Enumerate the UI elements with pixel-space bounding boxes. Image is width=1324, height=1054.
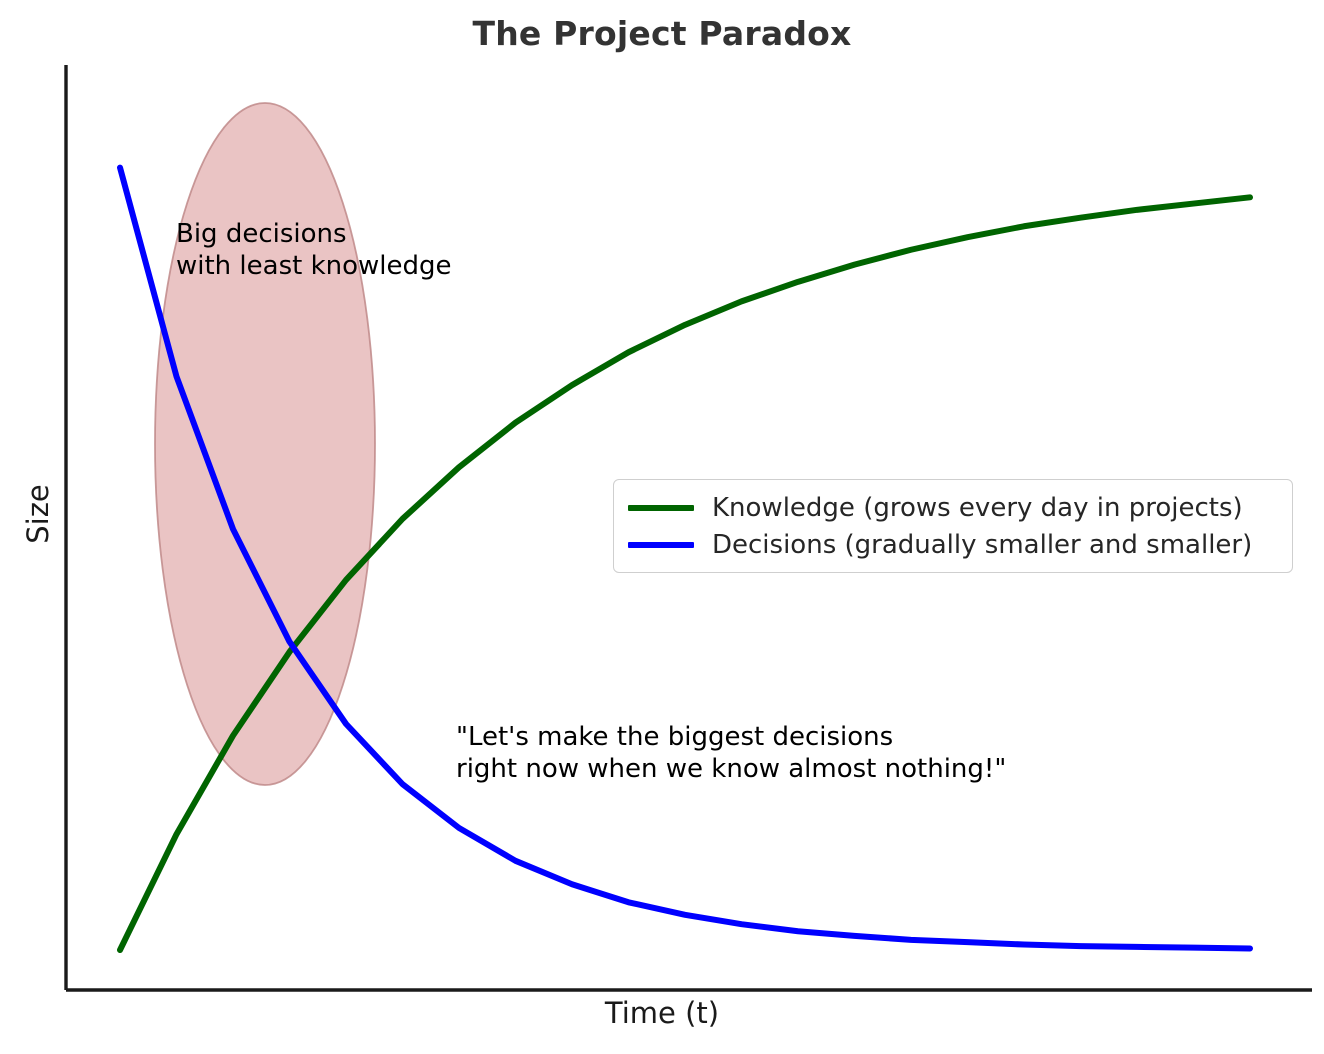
- annotation-quote: "Let's make the biggest decisions right …: [456, 722, 1006, 785]
- chart-figure: The Project Paradox Big decisions with l…: [0, 0, 1324, 1054]
- legend-swatch-decisions-icon: [628, 542, 694, 548]
- big-decisions-highlight-ellipse: [155, 103, 375, 785]
- legend-item-decisions[interactable]: Decisions (gradually smaller and smaller…: [628, 526, 1280, 563]
- y-axis-label: Size: [21, 454, 55, 574]
- x-axis-label: Time (t): [0, 996, 1324, 1030]
- chart-legend: Knowledge (grows every day in projects) …: [613, 479, 1293, 573]
- legend-label-knowledge: Knowledge (grows every day in projects): [712, 493, 1243, 523]
- legend-item-knowledge[interactable]: Knowledge (grows every day in projects): [628, 489, 1280, 526]
- legend-swatch-knowledge-icon: [628, 505, 694, 511]
- legend-label-decisions: Decisions (gradually smaller and smaller…: [712, 530, 1252, 560]
- annotation-big-decisions: Big decisions with least knowledge: [176, 219, 452, 282]
